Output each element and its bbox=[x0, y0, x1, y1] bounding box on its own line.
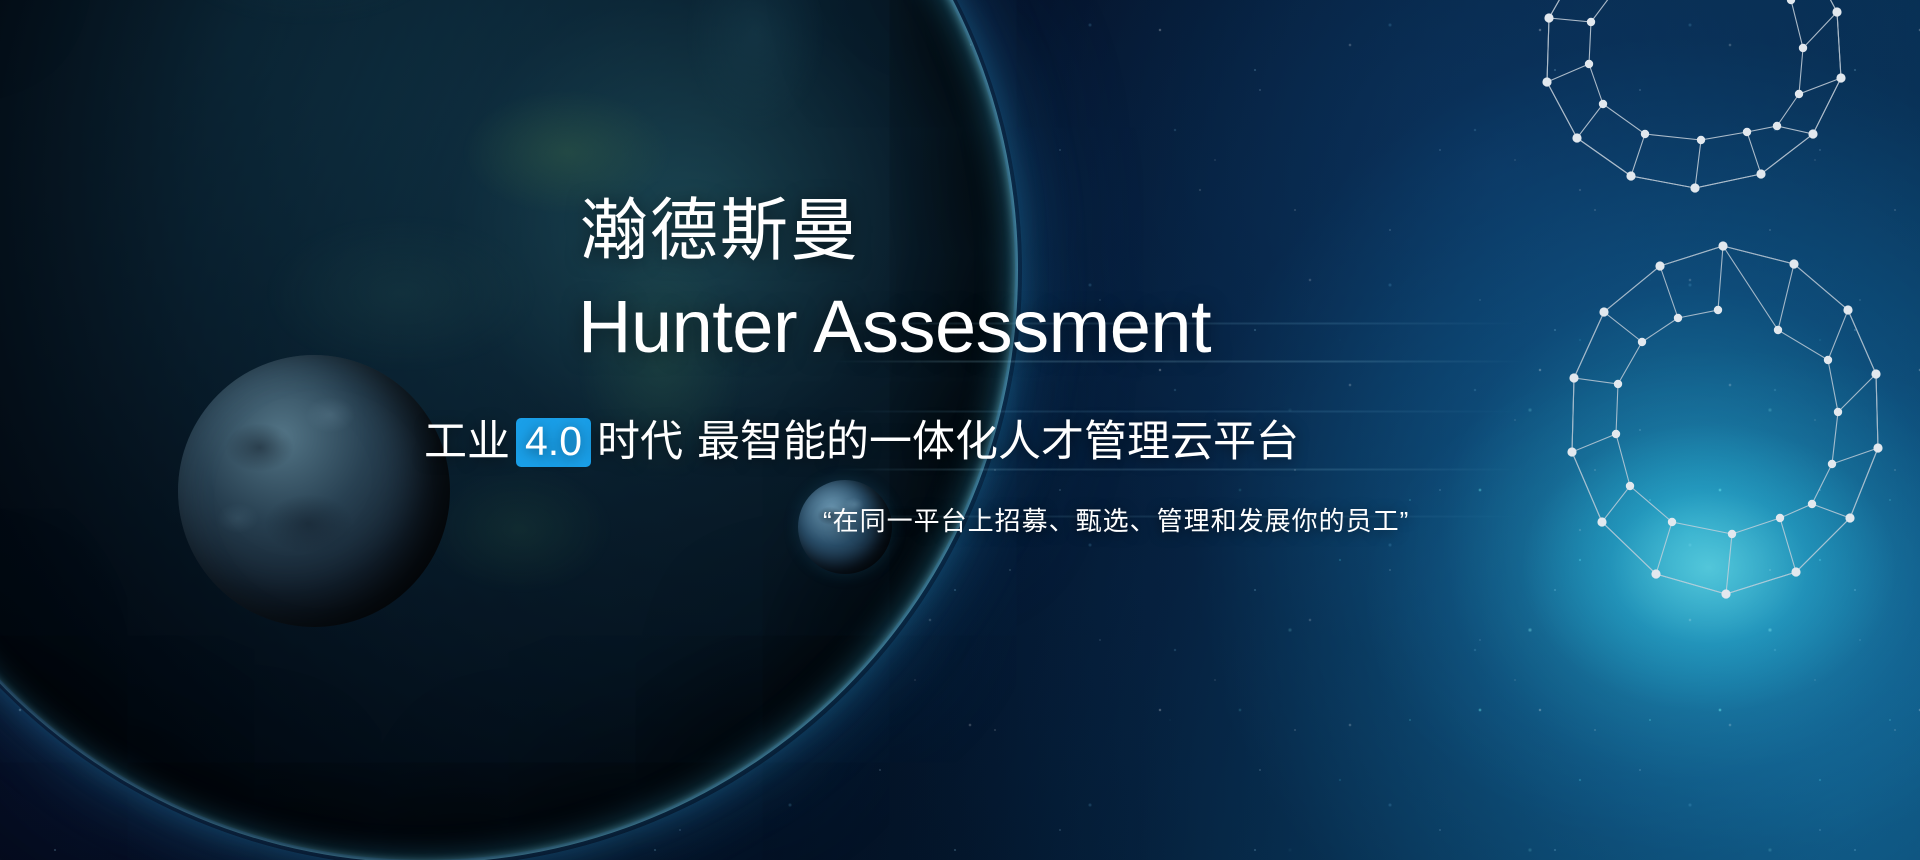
tagline-description: 最智能的一体化人才管理云平台 bbox=[697, 421, 1299, 464]
brand-title-chinese: 瀚德斯曼 bbox=[580, 197, 860, 265]
tagline-prefix: 工业 bbox=[424, 421, 510, 464]
tagline: 工业 4.0 时代 最智能的一体化人才管理云平台 bbox=[424, 418, 1299, 467]
brand-title-english: Hunter Assessment bbox=[578, 290, 1211, 364]
hero-banner: 瀚德斯曼 Hunter Assessment 工业 4.0 时代 最智能的一体化… bbox=[0, 0, 1920, 860]
tagline-era: 时代 bbox=[597, 421, 683, 464]
hero-copy: 瀚德斯曼 Hunter Assessment 工业 4.0 时代 最智能的一体化… bbox=[0, 0, 1920, 860]
hero-quote: “在同一平台上招募、甄选、管理和发展你的员工” bbox=[823, 508, 1409, 534]
industry-version-badge: 4.0 bbox=[516, 418, 591, 467]
